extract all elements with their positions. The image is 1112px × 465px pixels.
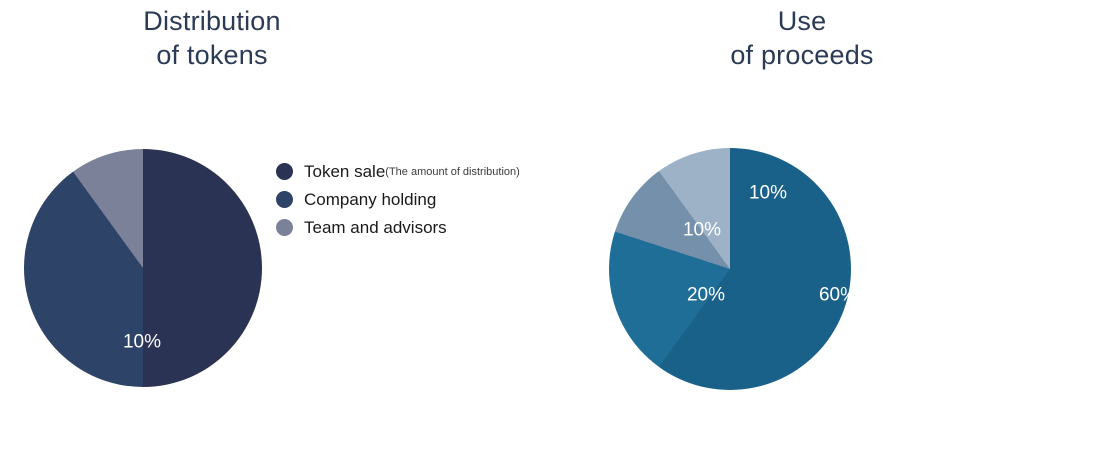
pie-slice-label-global-marketing: 10% [683,221,721,240]
legend-color-dot-icon [276,219,293,236]
pie-slice-label-team-and-advisors: 10% [123,333,161,352]
legend-item-label: Company holding [304,190,436,210]
legend-item-team-and-advisors: Team and advisors [276,215,520,240]
legend-item-label: Token sale [304,162,385,182]
pie-slice-label-operation-management: 20% [687,286,725,305]
pie-slice-label-reserve-expenses: 10% [749,184,787,203]
page-title-distribution: Distribution of tokens [0,4,492,72]
page-title-use-of-proceeds: Use of proceeds [526,4,1078,72]
use-of-proceeds-panel: Use of proceeds 60% 20% 10% 10% R&D Oper… [560,0,1112,465]
pie-slice-label-company-holding: 40% [90,431,128,450]
distribution-of-tokens-panel: Distribution of tokens 50% 40% 10% Token… [0,0,560,465]
pie-slice-label-rd: 60% [819,286,857,305]
legend-item-label: Team and advisors [304,218,447,238]
legend-distribution-of-tokens: Token sale(The amount of distribution) C… [276,159,520,243]
legend-color-dot-icon [276,191,293,208]
legend-item-token-sale: Token sale(The amount of distribution) [276,159,520,184]
legend-item-note: (The amount of distribution) [385,166,520,178]
pie-slice-label-token-sale: 50% [201,408,239,427]
legend-color-dot-icon [276,163,293,180]
pie-chart-use-of-proceeds [609,148,851,390]
legend-item-company-holding: Company holding [276,187,520,212]
